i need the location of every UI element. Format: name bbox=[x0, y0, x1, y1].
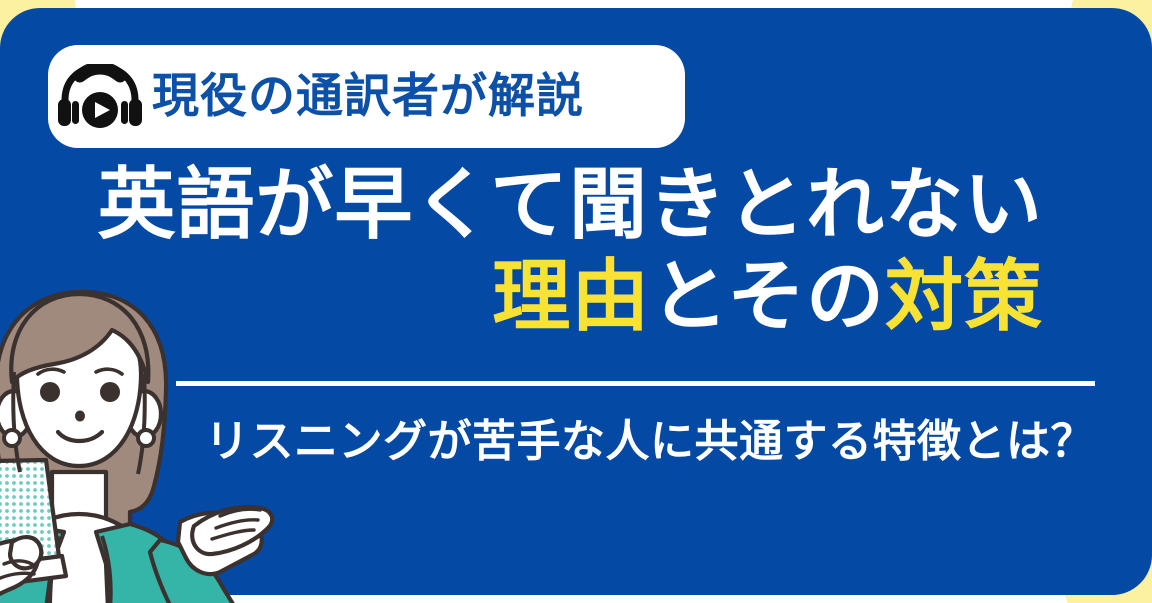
thumbnail-canvas: 現役の通訳者が解説 英語が早くて聞きとれない 理由とその対策 リスニングが苦手な… bbox=[0, 0, 1152, 603]
title-highlight-reason: 理由 bbox=[492, 252, 650, 340]
woman-presenter-illustration bbox=[0, 264, 284, 603]
title-divider bbox=[176, 381, 1095, 386]
title-line-1: 英語が早くて聞きとれない bbox=[0, 160, 1043, 250]
title-plain-toso: とその bbox=[650, 252, 885, 340]
headphones-play-icon bbox=[48, 45, 152, 148]
badge-pill: 現役の通訳者が解説 bbox=[48, 45, 685, 148]
title-highlight-countermeasure: 対策 bbox=[885, 252, 1043, 340]
badge-label: 現役の通訳者が解説 bbox=[152, 72, 584, 122]
